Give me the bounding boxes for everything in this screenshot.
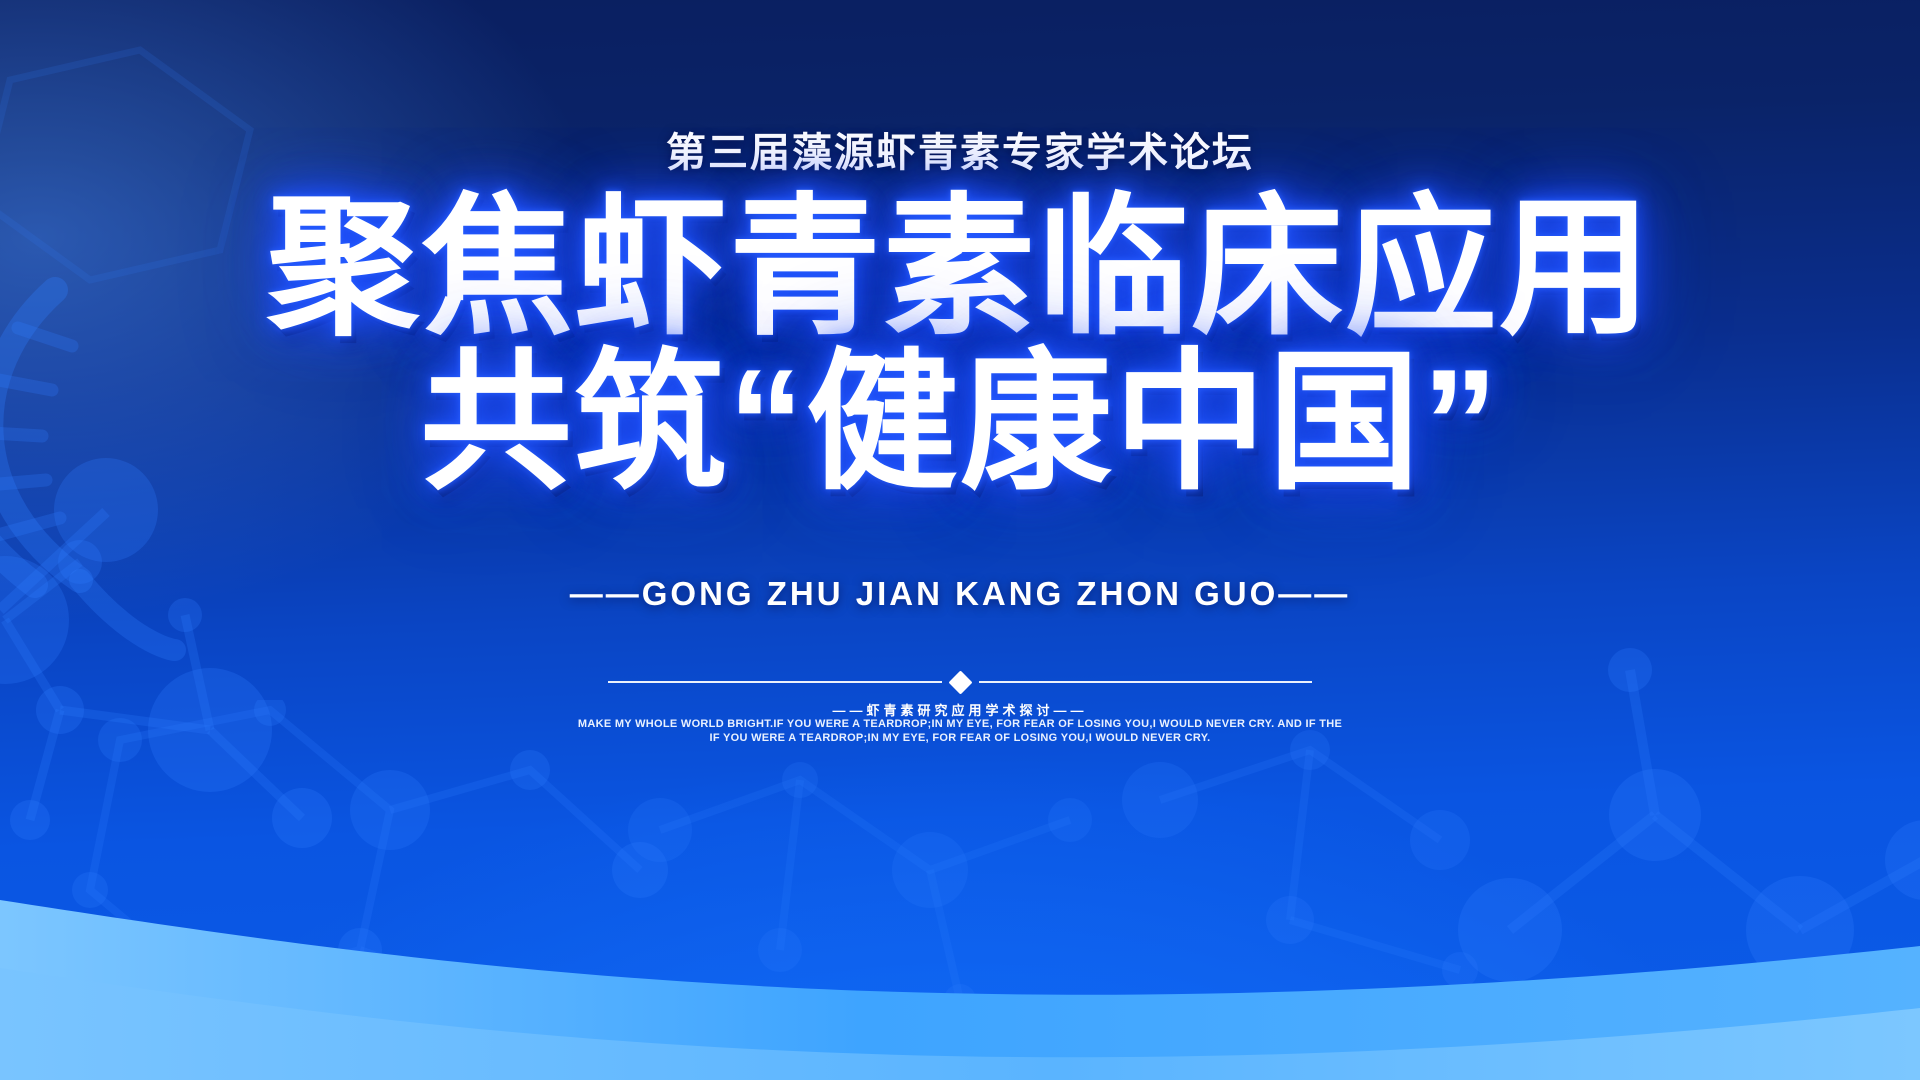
divider <box>608 669 1312 695</box>
diamond-icon <box>948 670 972 694</box>
english-line-2: IF YOU WERE A TEARDROP;IN MY EYE, FOR FE… <box>0 732 1920 746</box>
poster-canvas: 第三届藻源虾青素专家学术论坛 聚焦虾青素临床应用 共筑“健康中国” ——GONG… <box>0 0 1920 1080</box>
divider-line-right <box>979 681 1313 683</box>
title-line-2: 共筑“健康中国” <box>0 343 1920 504</box>
title-pinyin: ——GONG ZHU JIAN KANG ZHON GUO—— <box>0 575 1920 613</box>
english-paragraph: MAKE MY WHOLE WORLD BRIGHT.IF YOU WERE A… <box>0 718 1920 746</box>
english-line-1: MAKE MY WHOLE WORLD BRIGHT.IF YOU WERE A… <box>0 718 1920 732</box>
poster-content: 第三届藻源虾青素专家学术论坛 聚焦虾青素临床应用 共筑“健康中国” ——GONG… <box>0 0 1920 1080</box>
event-kicker: 第三届藻源虾青素专家学术论坛 <box>0 120 1920 178</box>
divider-line-left <box>608 681 942 683</box>
title-line-1: 聚焦虾青素临床应用 <box>0 188 1920 349</box>
subheading-zh: ——虾青素研究应用学术探讨—— <box>0 700 1920 719</box>
main-title: 聚焦虾青素临床应用 共筑“健康中国” <box>0 188 1920 504</box>
